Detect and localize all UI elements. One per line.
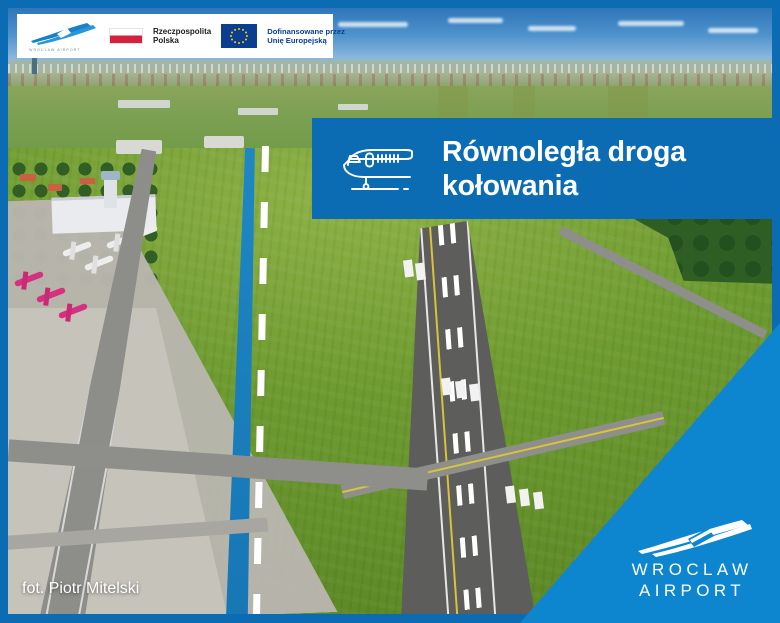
house xyxy=(48,184,62,191)
runway-marking xyxy=(469,384,480,402)
runway-marking xyxy=(533,492,544,510)
wroclaw-airport-logo: WROCLAW AIRPORT xyxy=(27,21,99,51)
farm-building xyxy=(238,108,278,115)
poland-flag-icon xyxy=(109,28,143,44)
wroclaw-airport-swoosh-icon xyxy=(630,517,754,559)
house xyxy=(80,178,95,184)
title-banner: Równoległa droga kołowania xyxy=(312,118,780,219)
runway-marking xyxy=(441,378,452,396)
poster: WROCLAW AIRPORT Rzeczpospolita Polska Do… xyxy=(0,0,780,623)
wroclaw-airport-logo-caption: WROCLAW AIRPORT xyxy=(29,48,81,52)
airplane-icon xyxy=(340,143,418,195)
house xyxy=(20,174,36,181)
corner-logo-line2: AIRPORT xyxy=(630,580,754,601)
eu-stars-icon xyxy=(221,24,257,48)
eu-funding-label-line1: Dofinansowane przez xyxy=(267,27,345,36)
runway-marking xyxy=(455,381,466,399)
cloud xyxy=(528,26,576,31)
cloud xyxy=(338,22,408,27)
cloud xyxy=(448,18,503,23)
runway-marking xyxy=(519,489,530,507)
european-union-flag-icon xyxy=(221,24,257,48)
eu-funding-label: Dofinansowane przez Unię Europejską xyxy=(267,27,345,45)
eu-funding-label-line2: Unię Europejską xyxy=(267,36,345,45)
poland-label: Rzeczpospolita Polska xyxy=(153,27,211,46)
corner-airport-logo: WROCLAW AIRPORT xyxy=(630,517,754,601)
runway-marking xyxy=(403,260,414,278)
wroclaw-airport-swoosh-icon xyxy=(27,21,99,47)
poland-label-line2: Polska xyxy=(153,36,211,46)
corner-logo-line1: WROCLAW xyxy=(630,559,754,580)
poland-label-line1: Rzeczpospolita xyxy=(153,27,211,37)
photo-credit: fot. Piotr Mitelski xyxy=(22,580,139,598)
cloud xyxy=(618,21,684,26)
runway-marking xyxy=(505,486,516,504)
banner-title: Równoległa droga kołowania xyxy=(442,135,686,203)
farm-building xyxy=(338,104,368,110)
control-tower xyxy=(104,178,117,208)
funding-logo-bar: WROCLAW AIRPORT Rzeczpospolita Polska Do… xyxy=(17,14,333,58)
hangar xyxy=(204,136,244,148)
runway-marking xyxy=(415,263,426,281)
farm-building xyxy=(118,100,170,108)
cloud xyxy=(708,28,758,33)
